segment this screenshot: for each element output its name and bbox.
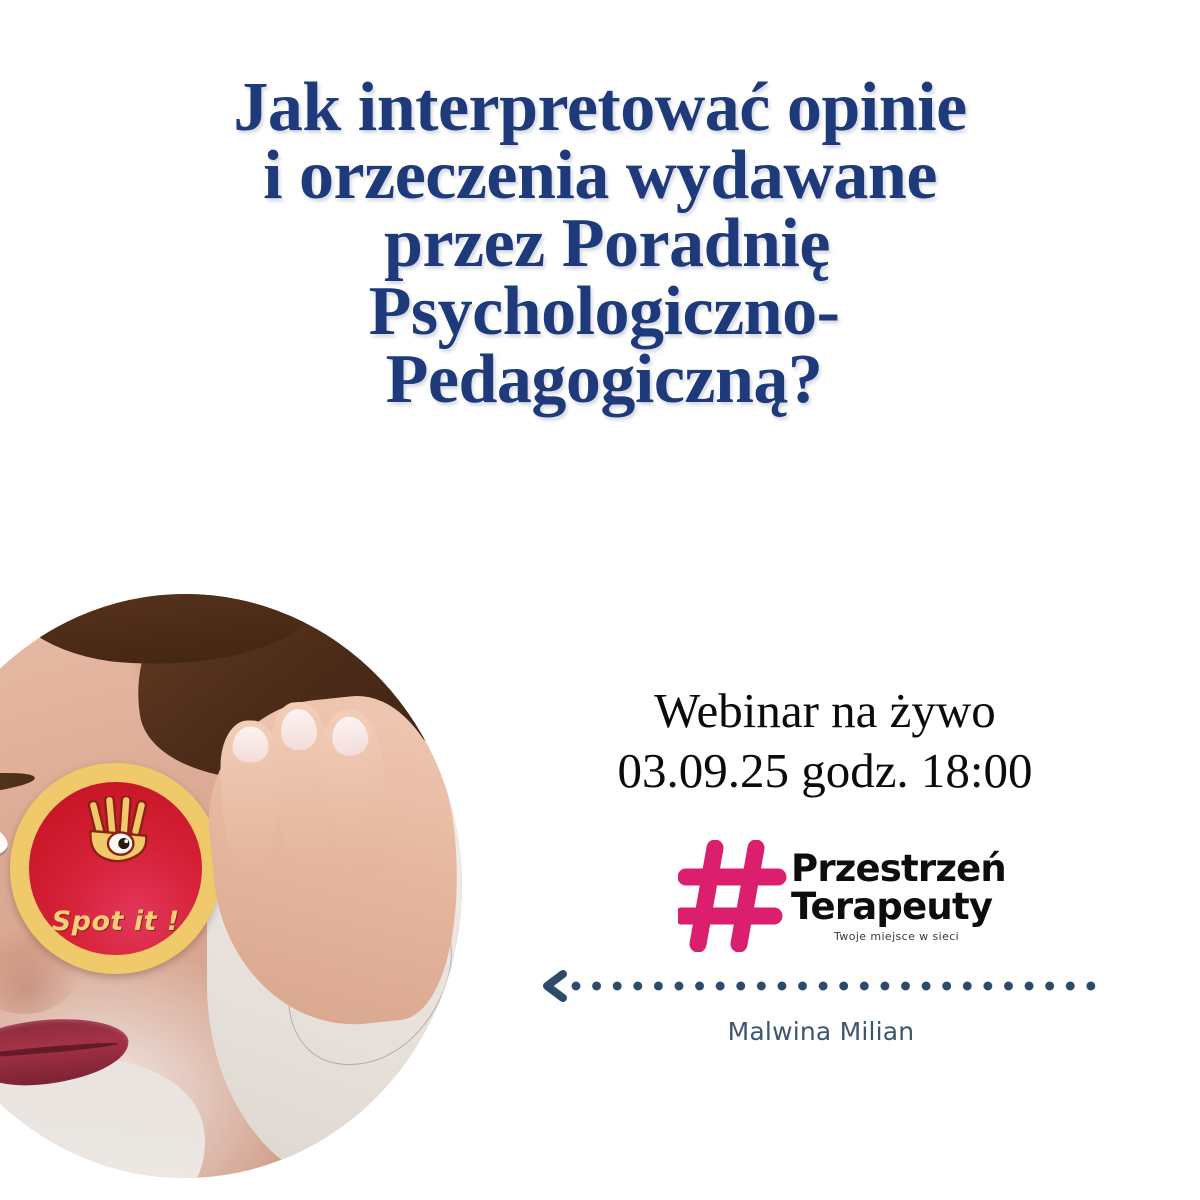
title-line-5: Pedagogiczną? bbox=[0, 346, 1200, 414]
brand-tagline: Twoje miejsce w sieci bbox=[834, 930, 959, 943]
fingernail-1 bbox=[232, 727, 268, 763]
spot-it-card-face: Spot it ! bbox=[29, 782, 202, 954]
brand-name: Przestrzeń Terapeuty bbox=[791, 850, 1006, 926]
title-line-4: Psychologiczno- bbox=[0, 278, 1200, 346]
webinar-format: Webinar na żywo bbox=[540, 681, 1110, 741]
webinar-poster: Jak interpretować opinie i orzeczenia wy… bbox=[0, 0, 1200, 1200]
brand-name-line-2: Terapeuty bbox=[791, 888, 1006, 926]
eye-shape bbox=[0, 822, 8, 863]
title-line-2: i orzeczenia wydawane bbox=[0, 142, 1200, 210]
spot-it-card: Spot it ! bbox=[10, 763, 221, 973]
fingernail-3 bbox=[329, 714, 370, 758]
dotted-line bbox=[570, 980, 1104, 992]
eyebrow-shape bbox=[0, 768, 36, 800]
presenter-photo: Spot it ! bbox=[0, 594, 462, 1178]
photo-face-background: Spot it ! bbox=[0, 594, 462, 1178]
fingernail-2 bbox=[279, 708, 318, 751]
title-line-3: przez Poradnię bbox=[0, 210, 1200, 278]
page-title: Jak interpretować opinie i orzeczenia wy… bbox=[0, 74, 1200, 413]
presenter-name: Malwina Milian bbox=[536, 1017, 1106, 1046]
webinar-datetime: 03.09.25 godz. 18:00 bbox=[540, 741, 1110, 801]
webinar-info: Webinar na żywo 03.09.25 godz. 18:00 bbox=[540, 681, 1110, 801]
dotted-arrow-divider bbox=[536, 966, 1106, 1006]
finger-3 bbox=[316, 706, 397, 876]
spot-it-hand-eye-icon bbox=[81, 796, 160, 875]
hashtag-icon bbox=[678, 840, 788, 952]
spot-it-card-label: Spot it ! bbox=[43, 906, 188, 937]
brand-name-line-1: Przestrzeń bbox=[791, 850, 1006, 888]
brand-logo[interactable]: Przestrzeń Terapeuty Twoje miejsce w sie… bbox=[678, 838, 978, 956]
title-line-1: Jak interpretować opinie bbox=[0, 74, 1200, 142]
